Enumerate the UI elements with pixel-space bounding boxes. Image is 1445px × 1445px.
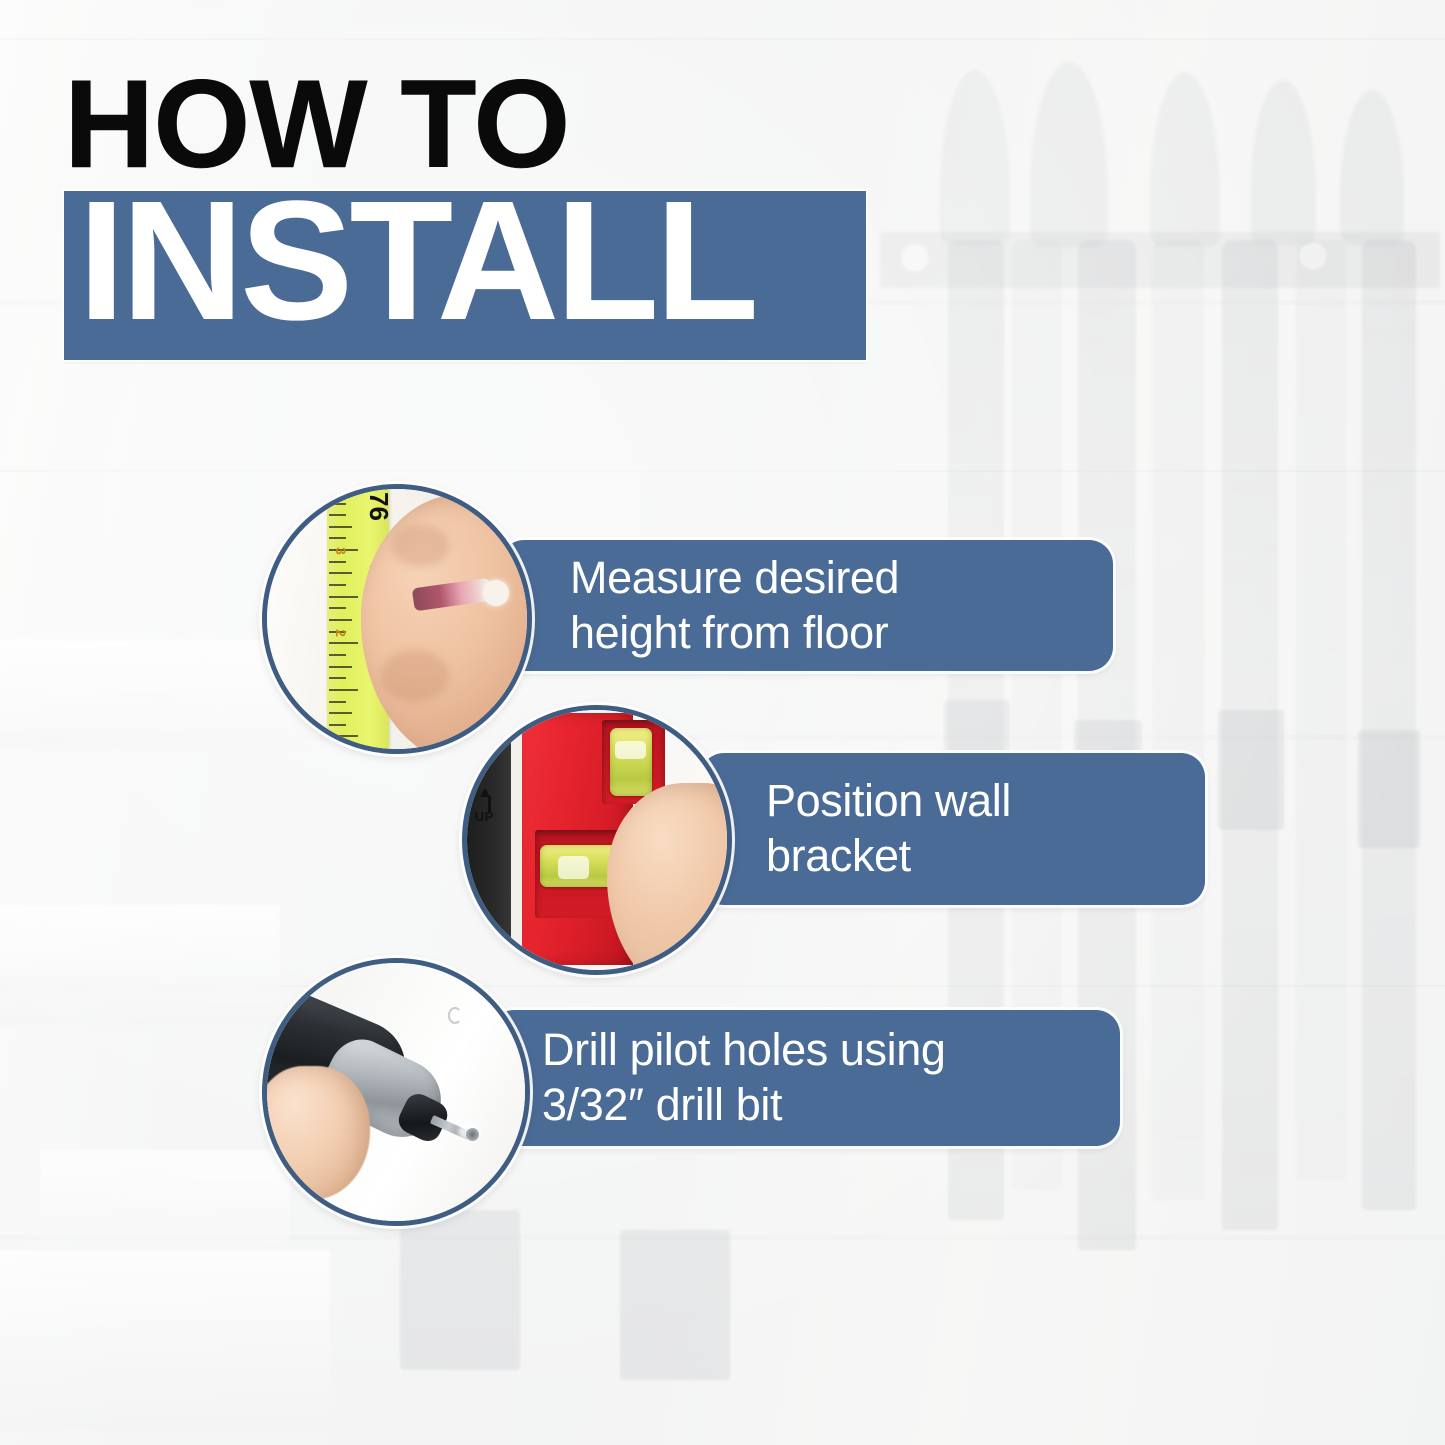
knuckle [381,650,449,702]
bracket-up-label: UP [475,809,494,824]
step-2-label-pill: Position wall bracket [700,753,1205,905]
level-bubble-horizontal [558,856,589,879]
step-1-text: Measure desired height from floor [570,551,899,661]
pilot-hole [466,1128,479,1141]
pencil-mark [448,1007,462,1024]
page-title-highlight-box: INSTALL [64,191,866,360]
infographic-canvas: HOW TO INSTALL Measure desired height fr… [0,0,1445,1445]
step-3-label-pill: Drill pilot holes using 3/32″ drill bit [490,1010,1120,1146]
tape-number-76: 76 [363,492,394,521]
tape-number-2: 2 [333,629,349,637]
step-2-text: Position wall bracket [766,774,1011,884]
drill-photo [262,958,530,1226]
tape-number-3: 3 [333,547,349,555]
pencil-eraser [483,580,509,606]
level-bracket-photo: UP [462,705,732,975]
level-bubble-vertical [615,741,646,759]
knuckle [392,525,449,567]
step-3-text: Drill pilot holes using 3/32″ drill bit [542,1023,946,1133]
page-title-line-2: INSTALL [78,176,755,346]
step-1-label-pill: Measure desired height from floor [500,540,1113,671]
level-vial-vertical [610,728,652,796]
